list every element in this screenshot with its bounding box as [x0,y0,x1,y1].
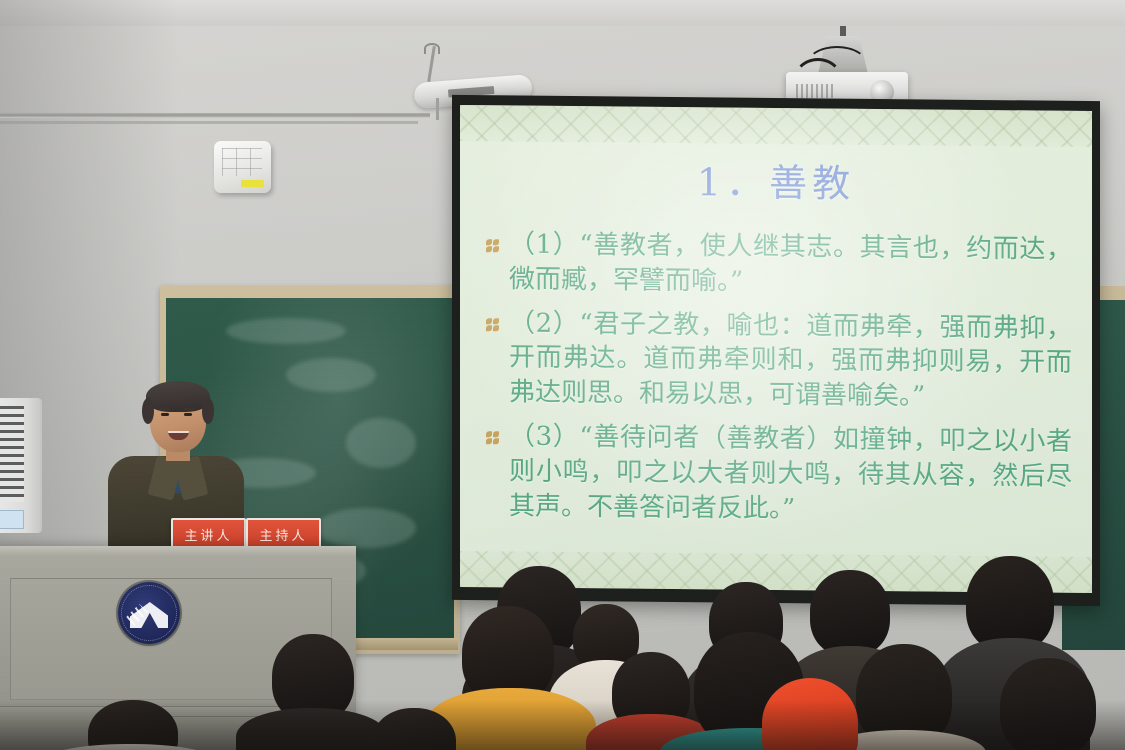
slide-title: 1．善教 [460,149,1092,210]
ac-louvers [0,406,24,502]
wall-rail [0,113,430,118]
foreground-shadow [0,700,1125,750]
slide-bullet-text: （3）“善待问者（善教者）如撞钟，叩之以小者则小鸣，叩之以大者则大鸣，待其从容，… [509,420,1072,530]
wall-rail-secondary [0,121,418,124]
projection-screen: 1．善教 （1）“善教者，使人继其志。其言也，约而达，微而臧，罕譬而喻。” （2… [452,95,1100,606]
control-panel-label [241,180,264,187]
slide-bullet-item: （3）“善待问者（善教者）如撞钟，叩之以小者则小鸣，叩之以大者则大鸣，待其从容，… [486,419,1072,529]
lecturer-brow-left [159,408,170,410]
lecturer-hair-left [142,398,154,424]
control-keypad-grid [222,148,262,176]
diamond-bullet-icon [486,431,499,444]
lecturer-eye-right [184,413,192,416]
slide-bullet-text: （2）“君子之教，喻也：道而弗牵，强而弗抑，开而弗达。道而弗牵则和，强而弗抑则易… [509,306,1072,416]
slide-bullet-item: （2）“君子之教，喻也：道而弗牵，强而弗抑，开而弗达。道而弗牵则和，强而弗抑则易… [486,306,1072,416]
audience-head [810,570,890,656]
lecturer-eye-left [161,413,169,416]
slide-top-border-pattern [460,105,1092,147]
wall-control-panel[interactable] [214,141,271,193]
slide-bullet-item: （1）“善教者，使人继其志。其言也，约而达，微而臧，罕譬而喻。” [486,227,1072,302]
screen-bracket-arm-lower [436,98,439,120]
ac-label [0,510,24,529]
lecturer-brow-right [183,408,194,410]
wall-air-conditioner [0,398,42,533]
lecturer-hair [146,381,210,412]
lecturer-hair-right [202,398,214,424]
diamond-bullet-icon [486,239,499,252]
presentation-slide: 1．善教 （1）“善教者，使人继其志。其言也，约而达，微而臧，罕譬而喻。” （2… [460,105,1092,593]
diamond-bullet-icon [486,318,499,331]
slide-bullet-list: （1）“善教者，使人继其志。其言也，约而达，微而臧，罕譬而喻。” （2）“君子之… [486,227,1072,538]
projector-cable-2 [806,46,868,84]
slide-bullet-text: （1）“善教者，使人继其志。其言也，约而达，微而臧，罕譬而喻。” [509,227,1072,302]
lecture-hall-photo: 1．善教 （1）“善教者，使人继其志。其言也，约而达，微而臧，罕譬而喻。” （2… [0,0,1125,750]
